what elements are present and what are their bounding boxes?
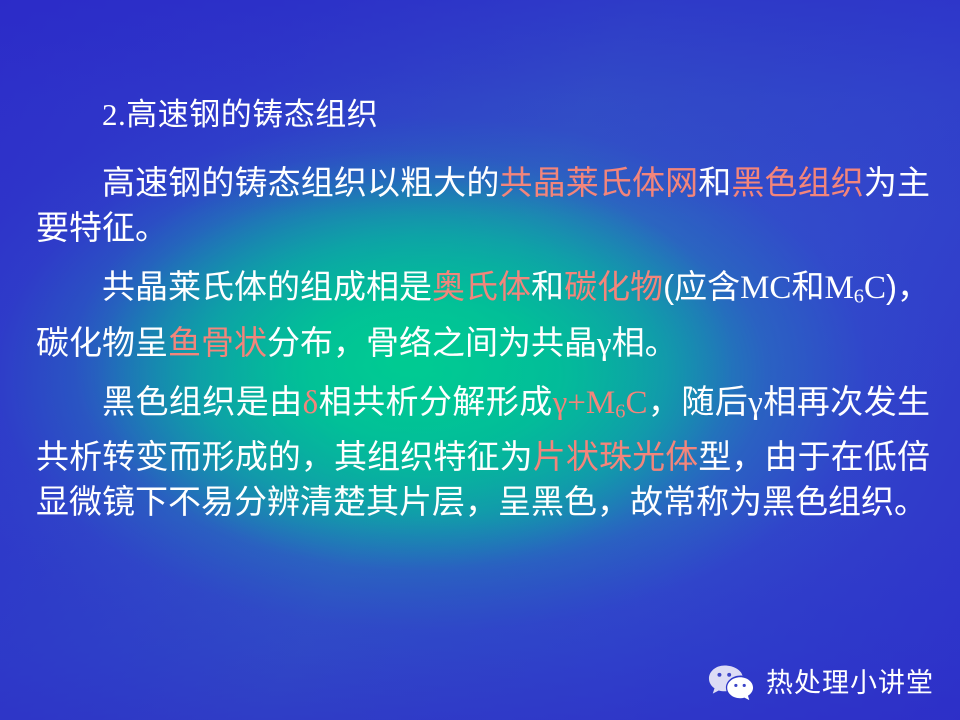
p3-formula-m6c-c: C [625, 385, 647, 421]
p3-seg2: 相共析分解形成 [318, 383, 553, 420]
title-text: 高速钢的铸态组织 [126, 97, 378, 132]
p1-highlight-black-structure: 黑色组织 [731, 164, 864, 201]
p2-seg1: 共晶莱氏体的组成相是 [102, 268, 432, 305]
paragraph-1: 高速钢的铸态组织以粗大的共晶莱氏体网和黑色组织为主要特征。 [36, 160, 930, 250]
p2-highlight-carbide: 碳化物 [564, 268, 663, 305]
p3-seg3: ，随后 [647, 383, 748, 420]
p3-symbol-gamma: γ [748, 385, 763, 421]
p2-seg4: 和 [791, 268, 824, 305]
page-title: 2.高速钢的铸态组织 [102, 96, 378, 135]
footer-watermark: 热处理小讲堂 [708, 664, 934, 702]
p3-formula-m6c-sub: 6 [615, 400, 625, 422]
p2-symbol-gamma: γ [597, 326, 612, 362]
p2-formula-m6c-m: M [824, 270, 853, 306]
p3-seg1: 黑色组织是由 [102, 383, 303, 420]
p1-seg2: 和 [698, 164, 731, 201]
footer-label: 热处理小讲堂 [766, 670, 934, 697]
p2-highlight-fishbone: 鱼骨状 [168, 324, 267, 361]
p1-highlight-eutectic-ledeburite-network: 共晶莱氏体网 [500, 164, 699, 201]
slide-canvas: 2.高速钢的铸态组织 高速钢的铸态组织以粗大的共晶莱氏体网和黑色组织为主要特征。… [0, 0, 960, 720]
body-text-block: 高速钢的铸态组织以粗大的共晶莱氏体网和黑色组织为主要特征。 共晶莱氏体的组成相是… [36, 160, 930, 530]
p2-formula-m6c-sub: 6 [854, 286, 864, 308]
slide-content: 2.高速钢的铸态组织 高速钢的铸态组织以粗大的共晶莱氏体网和黑色组织为主要特征。… [0, 0, 960, 720]
title-number: 2. [102, 97, 126, 132]
paragraph-2: 共晶莱氏体的组成相是奥氏体和碳化物(应含MC和M6C)，碳化物呈鱼骨状分布，骨络… [36, 264, 930, 367]
p3-symbol-delta: δ [303, 385, 319, 421]
p2-seg6: 分布，骨络之间为共晶 [267, 324, 597, 361]
p3-highlight-lamellar-pearlite: 片状珠光体 [533, 438, 699, 475]
p2-seg2: 和 [531, 268, 564, 305]
p2-formula-mc: MC [740, 270, 791, 306]
p2-seg3: (应含 [663, 268, 740, 305]
p2-highlight-austenite: 奥氏体 [432, 268, 531, 305]
p3-formula-gamma-plus-m6c: γ+M [553, 385, 616, 421]
p1-seg1: 高速钢的铸态组织以粗大的 [102, 164, 500, 201]
p2-formula-m6c-c: C [864, 270, 886, 306]
wechat-icon [708, 664, 754, 702]
p2-seg7: 相。 [612, 324, 678, 361]
paragraph-3: 黑色组织是由δ相共析分解形成γ+M6C，随后γ相再次发生共析转变而形成的，其组织… [36, 379, 930, 525]
